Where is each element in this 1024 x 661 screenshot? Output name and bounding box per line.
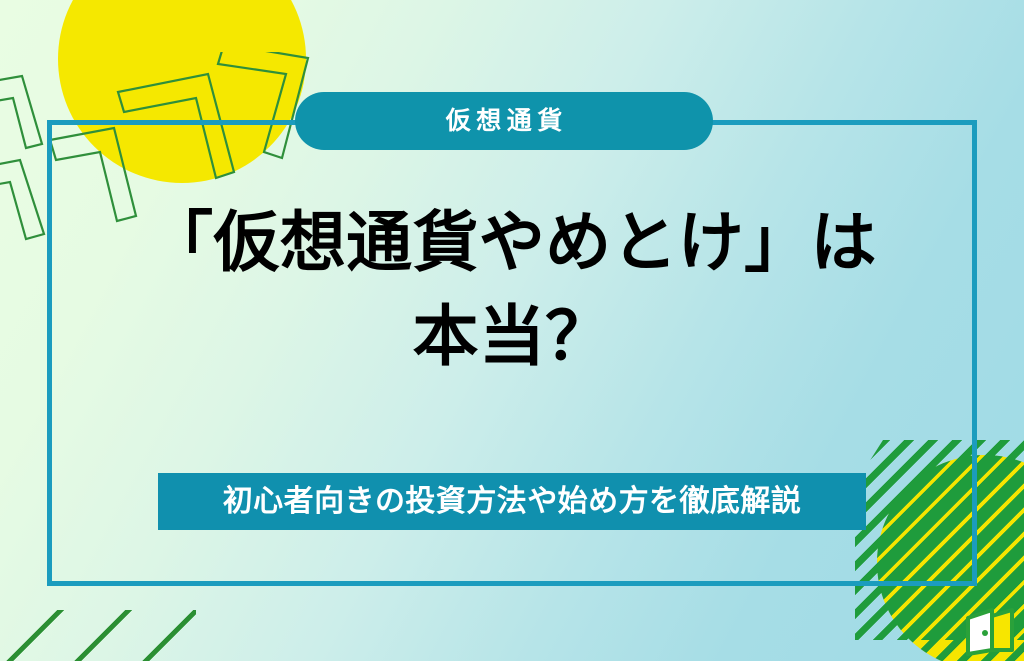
subtitle-text: 初心者向きの投資方法や始め方を徹底解説 (223, 487, 802, 517)
page-title: 「仮想通貨やめとけ」は 本当？ (47, 196, 977, 383)
page-title-line-2: 本当？ (47, 290, 977, 384)
banner-canvas: 仮想通貨 「仮想通貨やめとけ」は 本当？ 初心者向きの投資方法や始め方を徹底解説 (0, 0, 1024, 661)
category-badge-label: 仮想通貨 (440, 109, 568, 134)
open-door-logo-icon (962, 606, 1018, 658)
green-diagonal-lines-bottom-left-decoration (0, 610, 196, 661)
page-title-line-1: 「仮想通貨やめとけ」は (47, 196, 977, 290)
subtitle-bar: 初心者向きの投資方法や始め方を徹底解説 (158, 473, 866, 530)
category-badge[interactable]: 仮想通貨 (295, 92, 713, 150)
